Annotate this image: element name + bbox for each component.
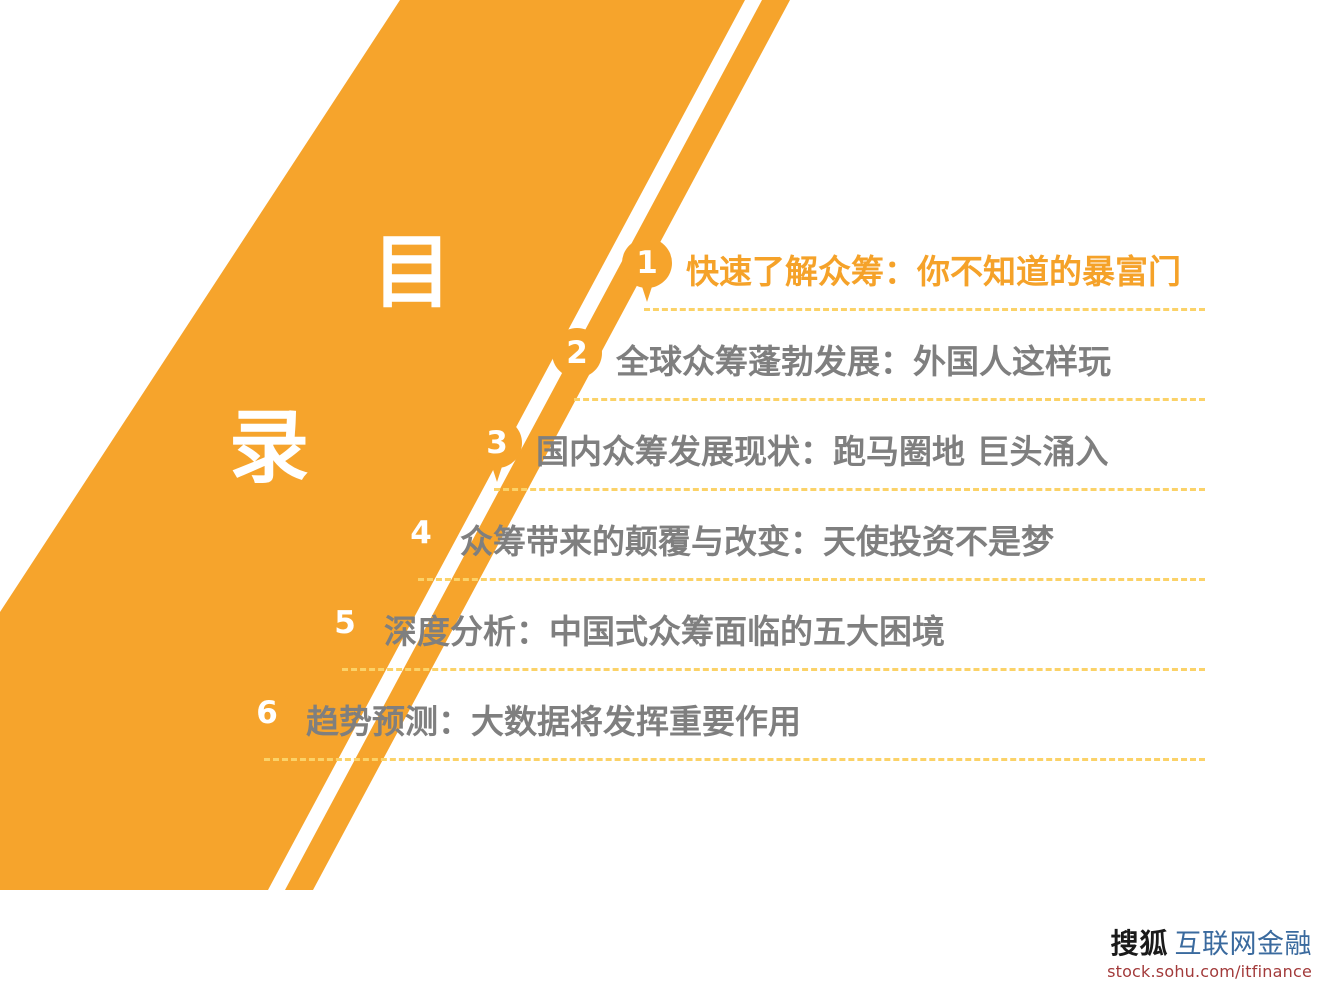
toc-item-label: 快速了解众筹：你不知道的暴富门: [686, 255, 1181, 288]
toc-item-number: 3: [472, 418, 522, 468]
toc-separator-5: [342, 668, 1205, 671]
logo-channel-text: 互联网金融: [1175, 931, 1313, 958]
toc-item-label: 众筹带来的颠覆与改变：天使投资不是梦: [460, 525, 1054, 558]
table-of-contents: 1 快速了解众筹：你不知道的暴富门 2 全球众筹蓬勃发展：外国人这样玩: [0, 0, 1320, 990]
toc-item-number: 5: [320, 598, 370, 648]
toc-item-label: 趋势预测：大数据将发挥重要作用: [306, 705, 801, 738]
toc-item-label: 全球众筹蓬勃发展：外国人这样玩: [616, 345, 1111, 378]
map-pin-icon-4: 4: [396, 508, 446, 574]
toc-item-4[interactable]: 4 众筹带来的颠覆与改变：天使投资不是梦: [396, 508, 1054, 600]
map-pin-icon-6: 6: [242, 688, 292, 754]
toc-item-5[interactable]: 5 深度分析：中国式众筹面临的五大困境: [320, 598, 945, 690]
map-pin-icon-3: 3: [472, 418, 522, 484]
toc-item-number: 4: [396, 508, 446, 558]
logo-wordmark-row: 搜狐 互联网金融: [1107, 930, 1312, 958]
toc-item-number: 1: [622, 238, 672, 288]
toc-separator-3: [494, 488, 1205, 491]
map-pin-icon-5: 5: [320, 598, 370, 664]
map-pin-icon-1: 1: [622, 238, 672, 304]
toc-item-2[interactable]: 2 全球众筹蓬勃发展：外国人这样玩: [552, 328, 1111, 420]
toc-item-label: 深度分析：中国式众筹面临的五大困境: [384, 615, 945, 648]
toc-item-number: 2: [552, 328, 602, 378]
toc-item-1[interactable]: 1 快速了解众筹：你不知道的暴富门: [622, 238, 1181, 330]
brand-logo: 搜狐 互联网金融 stock.sohu.com/itfinance: [1107, 930, 1312, 980]
logo-url-text: stock.sohu.com/itfinance: [1107, 964, 1312, 980]
map-pin-icon-2: 2: [552, 328, 602, 394]
toc-separator-6: [264, 758, 1205, 761]
toc-separator-4: [418, 578, 1205, 581]
toc-item-3[interactable]: 3 国内众筹发展现状：跑马圈地 巨头涌入: [472, 418, 1109, 510]
slide-canvas: 目 录 1 快速了解众筹：你不知道的暴富门 2: [0, 0, 1320, 990]
toc-separator-1: [644, 308, 1205, 311]
toc-item-label: 国内众筹发展现状：跑马圈地 巨头涌入: [536, 435, 1109, 468]
toc-separator-2: [574, 398, 1205, 401]
toc-item-number: 6: [242, 688, 292, 738]
logo-brand-text: 搜狐: [1110, 930, 1168, 958]
toc-item-6[interactable]: 6 趋势预测：大数据将发挥重要作用: [242, 688, 801, 780]
